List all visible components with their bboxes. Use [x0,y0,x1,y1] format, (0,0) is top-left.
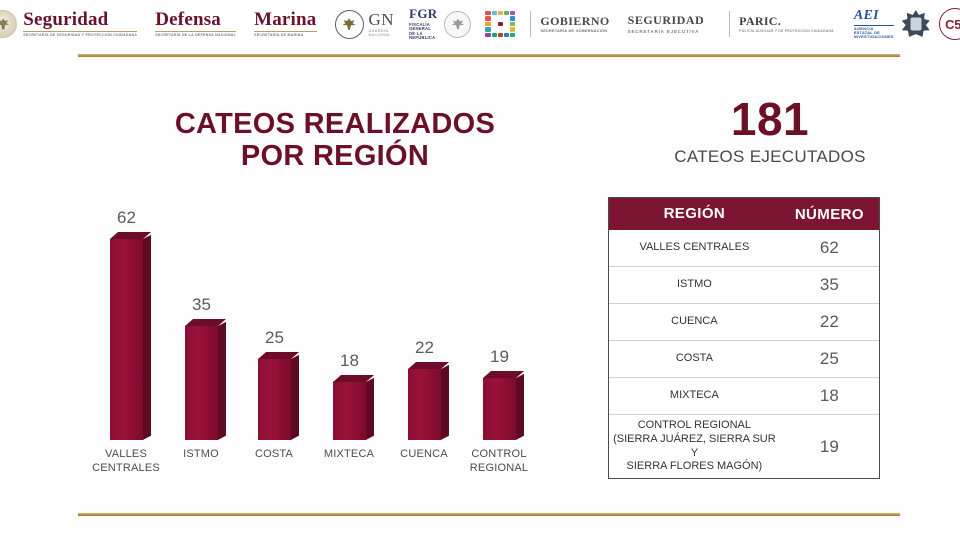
x-label-5: CONTROLREGIONAL [453,448,545,476]
bar-value-label: 22 [404,338,445,358]
logo-seg-ejecutiva-title: SEGURIDAD [628,14,705,26]
logo-gn-subtitle: GUARDIA NACIONAL [369,30,395,37]
chart-title-line2: POR REGIÓN [120,140,550,172]
bar-value-label: 62 [106,208,147,228]
table-cell-numero: 25 [780,349,879,369]
summary-caption: CATEOS EJECUTADOS [620,147,920,167]
table-cell-region: CUENCA [609,311,780,333]
logo-marina: Marina SECRETARÍA DE MARINA [254,4,316,44]
table-cell-region: CONTROL REGIONAL(SIERRA JUÁREZ, SIERRA S… [609,415,780,478]
logo-gobierno-subtitle: SECRETARÍA DE GOBERNACIÓN [540,29,609,34]
logo-fgr-title: FGR [409,7,437,21]
bar-front-face [408,369,441,440]
bar-value-label: 25 [254,328,295,348]
table-cell-region: ISTMO [609,274,780,296]
table-cell-region: VALLES CENTRALES [609,237,780,259]
sesnsp-mosaic-icon [485,11,515,38]
bar-front-face [185,326,218,440]
bar-top-face [333,375,374,382]
table-row: VALLES CENTRALES62 [609,230,879,266]
logo-paric-title: PARIC. [739,15,834,27]
bar-front-face [483,378,516,440]
logo-header: Seguridad SECRETARÍA DE SEGURIDAD Y PROT… [0,0,960,48]
logo-guardia-nacional: GN GUARDIA NACIONAL [335,4,395,44]
table-header-region: REGIÓN [609,201,780,228]
fgr-seal-icon [444,11,471,38]
footer-gold-rule [78,513,900,516]
chart-title-line1: CATEOS REALIZADOS [120,108,550,140]
logo-marina-title: Marina [254,10,316,29]
table-row: MIXTECA18 [609,377,879,414]
bar-side-face [441,365,449,440]
bar-top-face [408,362,449,369]
table-cell-numero: 22 [780,312,879,332]
table-row: CUENCA22 [609,303,879,340]
police-star-badge-icon [902,10,930,38]
logo-defensa-title: Defensa [155,10,236,29]
logo-aei: AEI AGENCIA ESTATAL DE INVESTIGACIONES [854,4,902,44]
table-row: CONTROL REGIONAL(SIERRA JUÁREZ, SIERRA S… [609,414,879,478]
logo-gobierno-title: GOBIERNO [540,15,609,27]
logo-seguridad-subtitle: SECRETARÍA DE SEGURIDAD Y PROTECCIÓN CIU… [23,31,137,37]
table-header-row: REGIÓN NÚMERO [609,198,879,230]
logo-aei-subtitle: AGENCIA ESTATAL DE INVESTIGACIONES [854,25,894,40]
logo-fgr-subtitle: FISCALÍA GENERAL DE LA REPÚBLICA [409,23,437,41]
bar-side-face [516,374,524,440]
logo-seg-ejecutiva-subtitle: SECRETARÍA EJECUTIVA [628,28,705,34]
table-row: ISTMO35 [609,266,879,303]
summary-value: 181 [620,96,920,142]
bar-front-face [110,239,143,440]
divider [729,11,730,37]
bar-top-face [185,319,226,326]
table-cell-region: MIXTECA [609,385,780,407]
logo-defensa: Defensa SECRETARÍA DE LA DEFENSA NACIONA… [155,4,236,44]
logo-marina-subtitle: SECRETARÍA DE MARINA [254,31,316,37]
logo-fgr: FGR FISCALÍA GENERAL DE LA REPÚBLICA [409,4,471,44]
bar-top-face [483,371,524,378]
table-cell-numero: 62 [780,238,879,258]
bar-side-face [291,355,299,440]
table-cell-numero: 18 [780,386,879,406]
logo-gobierno: GOBIERNO SECRETARÍA DE GOBERNACIÓN [485,4,609,44]
c5i-logo-icon: C5i [939,8,960,40]
table-body: VALLES CENTRALES62ISTMO35CUENCA22COSTA25… [609,230,879,478]
logo-policia-estatal [902,4,939,44]
bar-side-face [366,378,374,440]
chart-title: CATEOS REALIZADOS POR REGIÓN [120,108,550,173]
logo-seguridad-title: Seguridad [23,10,137,29]
table-row: COSTA25 [609,340,879,377]
bar-front-face [258,359,291,440]
table-cell-numero: 19 [780,437,879,457]
bar-top-face [110,232,151,239]
logo-defensa-subtitle: SECRETARÍA DE LA DEFENSA NACIONAL [155,31,236,37]
logo-c5i: C5i [939,4,960,44]
table-cell-region: COSTA [609,348,780,370]
bar-chart: 623525182219 [80,195,580,440]
logo-aei-title: AEI [854,9,894,23]
bar-side-face [218,322,226,440]
logo-paric: PARIC. POLICÍA AUXILIAR Y DE PROTECCIÓN … [720,4,834,44]
bar-value-label: 19 [479,347,520,367]
logo-seguridad-ejecutiva: SEGURIDAD SECRETARÍA EJECUTIVA [628,4,705,44]
bar-side-face [143,235,151,440]
bar-value-label: 18 [329,351,370,371]
header-gold-rule [78,54,900,57]
divider [530,11,531,37]
slide-root: Seguridad SECRETARÍA DE SEGURIDAD Y PROT… [0,0,960,540]
guardia-nacional-seal-icon [335,10,364,39]
logo-gn-title: GN [369,11,395,28]
bar-chart-bars: 623525182219 [80,195,580,440]
region-table: REGIÓN NÚMERO VALLES CENTRALES62ISTMO35C… [608,197,880,479]
bar-value-label: 35 [181,295,222,315]
bar-chart-x-axis-labels: VALLESCENTRALESISTMOCOSTAMIXTECACUENCACO… [80,448,580,488]
logo-seguridad: Seguridad SECRETARÍA DE SEGURIDAD Y PROT… [0,4,137,44]
table-header-numero: NÚMERO [780,206,879,223]
bar-top-face [258,352,299,359]
logo-paric-subtitle: POLICÍA AUXILIAR Y DE PROTECCIÓN CIUDADA… [739,29,834,33]
table-cell-numero: 35 [780,275,879,295]
bar-front-face [333,382,366,440]
eagle-seal-icon [0,10,17,38]
